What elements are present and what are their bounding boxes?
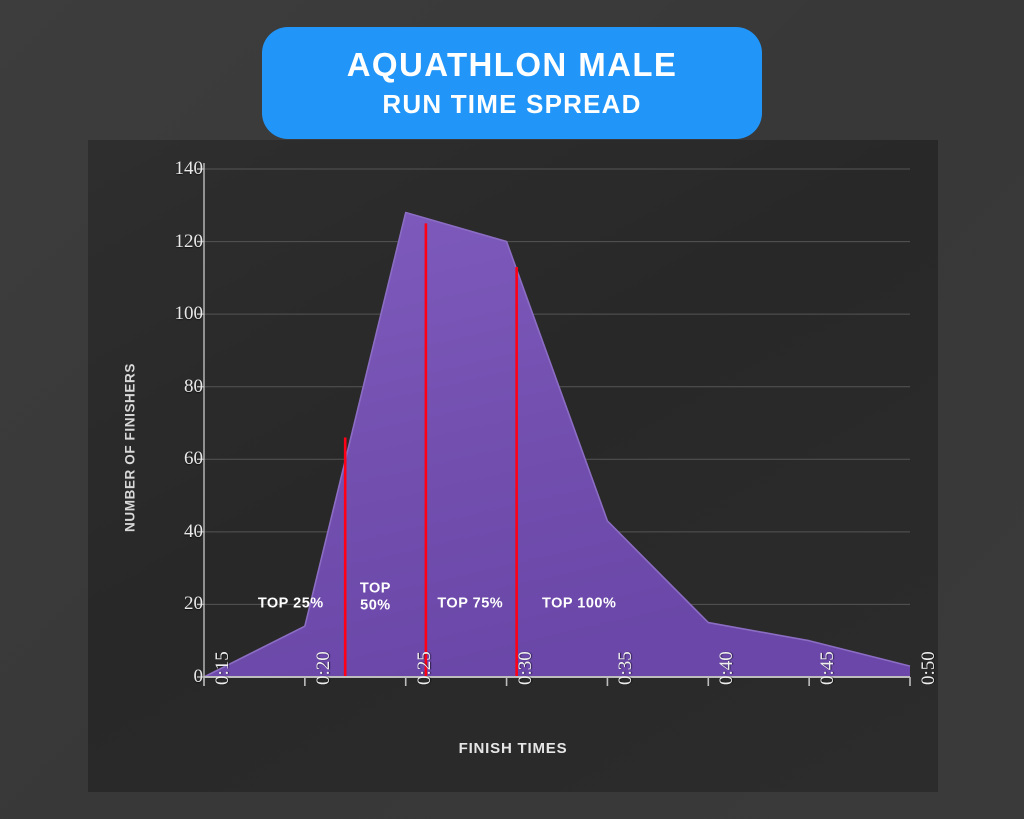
y-tick-label: 20 [143,593,203,615]
y-tick-label: 140 [143,158,203,180]
x-tick-label: 0:35 [615,615,637,685]
chart-page: AQUATHLON MALE RUN TIME SPREAD 020406080… [0,0,1024,819]
y-tick-label: 40 [143,521,203,543]
x-tick-label: 0:45 [817,615,839,685]
chart-title-subtitle: RUN TIME SPREAD [382,91,641,118]
x-tick-label: 0:20 [313,615,335,685]
title-badge: AQUATHLON MALE RUN TIME SPREAD [262,27,762,139]
area-chart-plot [88,140,938,792]
x-tick-label: 0:15 [212,615,234,685]
y-axis-title: NUMBER OF FINISHERS [123,328,138,568]
chart-panel: 020406080100120140 NUMBER OF FINISHERS 0… [88,140,938,792]
x-tick-label: 0:50 [918,615,938,685]
x-tick-label: 0:25 [414,615,436,685]
x-axis-title: FINISH TIMES [88,740,938,757]
y-tick-label: 0 [143,666,203,688]
chart-title-main: AQUATHLON MALE [347,48,678,83]
y-tick-label: 120 [143,231,203,253]
x-tick-label: 0:40 [716,615,738,685]
y-tick-label: 80 [143,376,203,398]
x-tick-label: 0:30 [515,615,537,685]
y-tick-label: 100 [143,303,203,325]
y-tick-label: 60 [143,448,203,470]
